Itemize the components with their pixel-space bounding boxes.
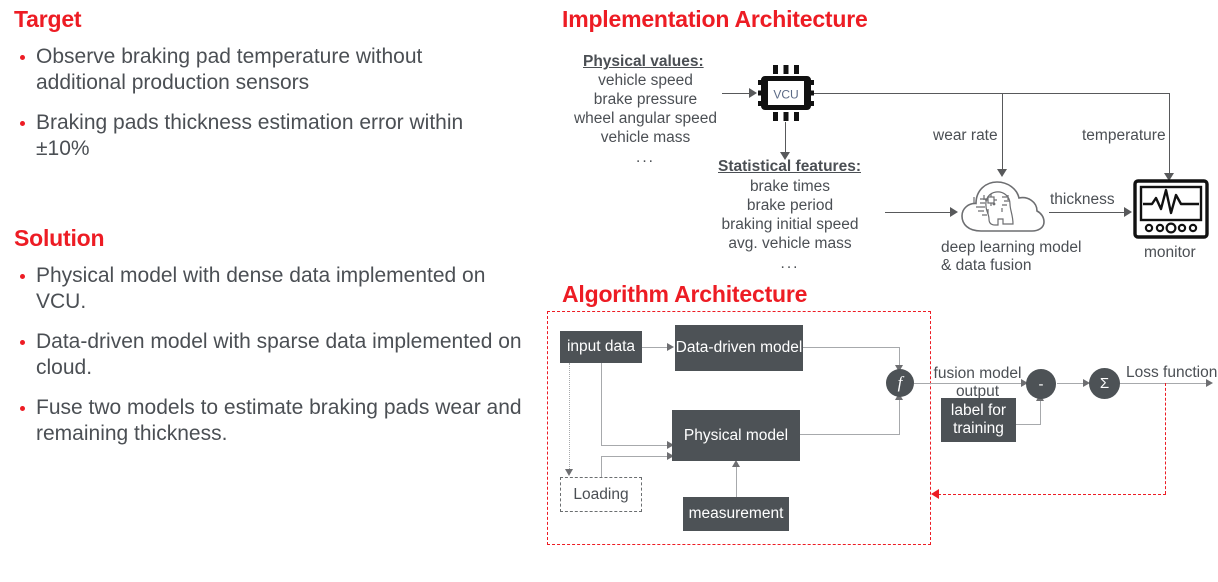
arrowhead-cloud-to-monitor <box>1124 207 1132 217</box>
node-loading[interactable]: Loading <box>560 477 642 512</box>
cloud-caption-line1: deep learning model <box>941 238 1081 257</box>
target-heading: Target <box>14 6 81 33</box>
statistical-features-item: braking initial speed <box>700 215 880 234</box>
connector-input-down <box>601 363 602 446</box>
arrowhead-values-to-vcu <box>749 88 757 98</box>
physical-values-ellipsis: ... <box>563 148 728 167</box>
connector-features-to-cloud <box>885 212 951 213</box>
connector-label-up <box>1040 398 1041 425</box>
connector-input-to-loading <box>569 363 570 471</box>
edge-label-thickness: thickness <box>1050 190 1115 209</box>
statistical-features-item: brake times <box>700 177 880 196</box>
edge-label-fusion-output-line2: output <box>930 382 1025 401</box>
connector-input-to-physical <box>601 445 668 446</box>
edge-label-wear-rate: wear rate <box>933 126 998 145</box>
edge-label-loss-function: Loss function <box>1126 363 1217 382</box>
operator-subtract[interactable]: - <box>1026 369 1056 399</box>
connector-loading-up <box>601 456 602 478</box>
connector-input-to-datadriven <box>642 347 668 348</box>
node-measurement[interactable]: measurement <box>683 497 789 531</box>
physical-values-item: brake pressure <box>563 90 728 109</box>
edge-label-temperature: temperature <box>1082 126 1166 145</box>
algorithm-architecture-heading: Algorithm Architecture <box>562 281 807 308</box>
chip-icon: VCU <box>757 64 815 122</box>
list-item: Fuse two models to estimate braking pads… <box>14 395 529 447</box>
cloud-ai-icon <box>958 175 1052 235</box>
node-input-data[interactable]: input data <box>560 331 642 363</box>
operator-sum[interactable]: Σ <box>1089 368 1120 399</box>
slide-root: Target Observe braking pad temperature w… <box>0 0 1218 582</box>
statistical-features-item: brake period <box>700 196 880 215</box>
list-item: Data-driven model with sparse data imple… <box>14 329 529 381</box>
connector-vcu-bus <box>814 93 1170 94</box>
arrowhead-input-to-loading <box>565 469 573 476</box>
connector-measurement-to-physical <box>736 466 737 499</box>
solution-bullet-list: Physical model with dense data implement… <box>14 263 529 461</box>
connector-values-to-vcu <box>722 93 750 94</box>
physical-values-item: wheel angular speed <box>563 109 728 128</box>
feedback-line-horizontal <box>938 494 1166 495</box>
implementation-architecture-heading: Implementation Architecture <box>562 6 868 33</box>
physical-values-item: vehicle speed <box>563 71 728 90</box>
node-label-for-training-line1: label for <box>951 402 1006 420</box>
connector-cloud-to-monitor <box>1049 212 1125 213</box>
connector-label-to-subtract <box>1016 424 1041 425</box>
arrowhead-features-to-cloud <box>950 207 958 217</box>
node-label-for-training-line2: training <box>953 420 1004 438</box>
target-bullet-list: Observe braking pad temperature without … <box>14 44 514 176</box>
physical-values-title: Physical values: <box>583 52 704 71</box>
cloud-caption-line2: & data fusion <box>941 256 1031 275</box>
connector-wear-rate <box>1002 93 1003 171</box>
solution-heading: Solution <box>14 225 104 252</box>
connector-loading-to-physical <box>601 456 668 457</box>
connector-datadriven-to-fusion <box>803 347 900 348</box>
connector-physical-to-fusion <box>800 434 900 435</box>
connector-temperature <box>1169 93 1170 175</box>
vcu-label: VCU <box>773 88 798 102</box>
statistical-features-title: Statistical features: <box>718 157 861 176</box>
connector-vcu-to-features <box>785 122 786 154</box>
operator-fusion-f[interactable]: f <box>886 369 914 397</box>
list-item: Braking pads thickness estimation error … <box>14 110 514 162</box>
monitor-caption: monitor <box>1144 243 1196 262</box>
monitor-icon <box>1133 179 1209 241</box>
statistical-features-ellipsis: ... <box>700 254 880 273</box>
arrowhead-measurement-to-physical <box>732 460 740 467</box>
edge-label-fusion-output-line1: fusion model <box>930 364 1025 383</box>
statistical-features-item: avg. vehicle mass <box>700 234 880 253</box>
node-data-driven-model[interactable]: Data-driven model <box>675 325 803 371</box>
physical-values-item: vehicle mass <box>563 128 728 147</box>
node-label-for-training[interactable]: label for training <box>941 398 1016 442</box>
arrowhead-input-to-datadriven <box>667 343 674 351</box>
list-item: Observe braking pad temperature without … <box>14 44 514 96</box>
feedback-line-vertical <box>1165 383 1166 494</box>
node-physical-model[interactable]: Physical model <box>672 410 800 461</box>
connector-sum-to-loss <box>1120 383 1208 384</box>
arrowhead-feedback <box>931 489 939 499</box>
list-item: Physical model with dense data implement… <box>14 263 529 315</box>
connector-physical-up <box>899 397 900 435</box>
